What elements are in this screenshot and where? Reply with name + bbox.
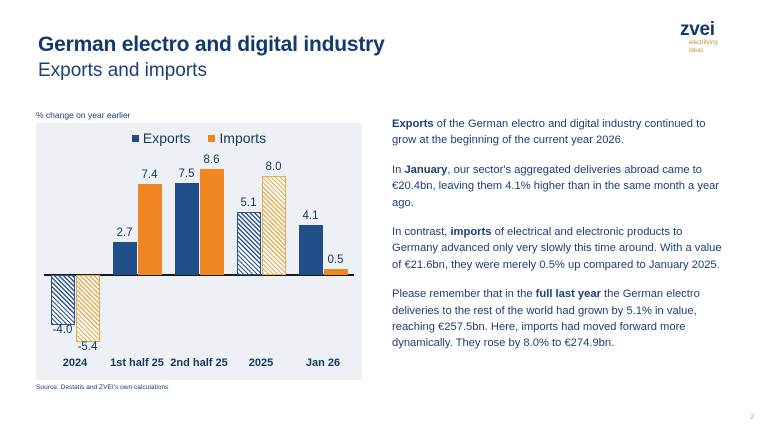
p1-bold: Exports [392,118,434,130]
logo-wordmark: zvei [680,20,742,39]
bar-value-label: 8.6 [204,154,220,167]
bar-group-2025: 5.18.0 [230,153,292,346]
bar-exports-2024[interactable]: -4.0 [51,153,75,346]
bars: 2.77.4 [106,153,168,346]
bar-rect [113,242,137,275]
page-subtitle: Exports and imports [38,58,385,83]
p4-pre: Please remember that in the [392,288,536,300]
page-title-block: German electro and digital industry Expo… [38,32,385,83]
bar-value-label: 2.7 [117,227,133,240]
bar-value-label: -5.4 [78,341,98,354]
bar-exports-2025[interactable]: 5.1 [237,153,261,346]
p2-bold: January [404,164,447,176]
bar-group-2nd-half-25: 7.58.6 [168,153,230,346]
bars: -4.0-5.4 [44,153,106,346]
bars: 4.10.5 [292,153,354,346]
paragraph-january: In January, our sector's aggregated deli… [392,162,722,211]
x-axis-label-jan-26: Jan 26 [292,357,354,370]
bar-exports-1st-half-25[interactable]: 2.7 [113,153,137,346]
bar-value-label: 7.5 [179,168,195,181]
bar-exports-jan-26[interactable]: 4.1 [299,153,323,346]
bar-groups: -4.0-5.42.77.47.58.65.18.04.10.5 [44,153,354,346]
bar-rect [299,225,323,276]
legend-label-exports: Exports [143,131,190,145]
bar-group-2024: -4.0-5.4 [44,153,106,346]
zvei-logo: zvei electrifying ideas [680,20,742,55]
legend-item-exports: Exports [132,131,190,145]
bar-imports-1st-half-25[interactable]: 7.4 [138,153,162,346]
page-number: 2 [750,414,754,421]
page-title: German electro and digital industry [38,32,385,58]
bar-value-label: 0.5 [328,254,344,267]
plot-area: -4.0-5.42.77.47.58.65.18.04.10.5 [44,153,354,346]
bar-rect [76,275,100,342]
chart-legend: Exports Imports [36,131,362,145]
x-axis-labels: 20241st half 252nd half 252025Jan 26 [44,357,354,370]
bar-group-1st-half-25: 2.77.4 [106,153,168,346]
bar-rect [200,169,224,275]
bars: 7.58.6 [168,153,230,346]
chart-axis-caption: % change on year earlier [36,110,362,120]
logo-tagline-line2: ideas [689,48,742,56]
bar-value-label: 5.1 [241,197,257,210]
bar-rect [237,212,261,275]
p1-post: of the German electro and digital indust… [392,118,705,146]
bar-rect [175,183,199,276]
body-text-column: Exports of the German electro and digita… [392,116,722,352]
bar-chart: Exports Imports -4.0-5.42.77.47.58.65.18… [36,123,362,380]
legend-label-imports: Imports [219,131,266,145]
legend-swatch-imports-icon [208,135,215,142]
bar-imports-2025[interactable]: 8.0 [262,153,286,346]
bar-rect [51,275,75,324]
bar-imports-jan-26[interactable]: 0.5 [324,153,348,346]
slide: German electro and digital industry Expo… [0,0,768,430]
x-axis-label-2nd-half-25: 2nd half 25 [168,357,230,370]
p4-bold: full last year [536,288,601,300]
bar-exports-2nd-half-25[interactable]: 7.5 [175,153,199,346]
bar-value-label: 7.4 [142,169,158,182]
bar-imports-2024[interactable]: -5.4 [76,153,100,346]
paragraph-full-year: Please remember that in the full last ye… [392,286,722,352]
p3-bold: imports [450,226,491,238]
bar-group-jan-26: 4.10.5 [292,153,354,346]
paragraph-imports: In contrast, imports of electrical and e… [392,224,722,273]
legend-swatch-exports-icon [132,135,139,142]
bars: 5.18.0 [230,153,292,346]
chart-source: Source: Destatis and ZVEI's own calculat… [36,384,362,392]
bar-rect [138,184,162,275]
bar-value-label: 8.0 [266,161,282,174]
logo-tagline-line1: electrifying [689,40,742,48]
x-axis-label-2025: 2025 [230,357,292,370]
logo-tagline: electrifying ideas [689,40,742,55]
legend-item-imports: Imports [208,131,266,145]
paragraph-exports: Exports of the German electro and digita… [392,116,722,149]
bar-rect [324,269,348,275]
bar-value-label: -4.0 [53,324,73,337]
chart-block: % change on year earlier Exports Imports… [36,110,362,392]
bar-value-label: 4.1 [303,210,319,223]
p3-pre: In contrast, [392,226,450,238]
x-axis-label-2024: 2024 [44,357,106,370]
p2-pre: In [392,164,404,176]
bar-rect [262,176,286,275]
x-axis-label-1st-half-25: 1st half 25 [106,357,168,370]
bar-imports-2nd-half-25[interactable]: 8.6 [200,153,224,346]
